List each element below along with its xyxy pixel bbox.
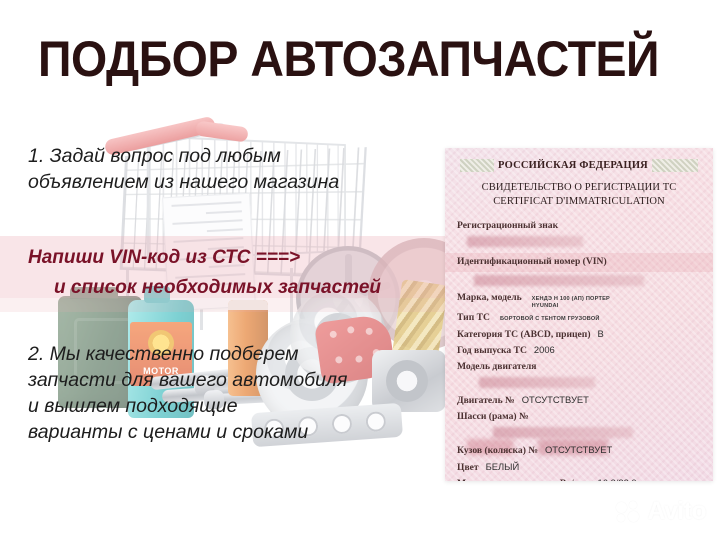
certificate-title-fr: CERTIFICAT D'IMMATRICULATION (457, 195, 701, 209)
certificate-field-label: Мощность двигателя, кВт/л. с. (457, 476, 591, 481)
certificate-field-row: Регистрационный знак (457, 218, 701, 234)
certificate-field-row: Двигатель №ОТСУТСТВУЕТ (457, 392, 701, 409)
step-1-line-2: объявлением из нашего магазина (28, 169, 339, 195)
step-2-line-3: и вышлем подходящие (28, 393, 347, 419)
step-1-line-1: 1. Задай вопрос под любым (28, 143, 339, 169)
certificate-field-label: Регистрационный знак (457, 218, 558, 234)
certificate-federation-line: РОССИЙСКАЯ ФЕДЕРАЦИЯ (457, 159, 701, 172)
certificate-title-ru: СВИДЕТЕЛЬСТВО О РЕГИСТРАЦИИ ТС (457, 181, 701, 195)
certificate-field-row: Шасси (рама) № (457, 409, 701, 425)
certificate-redacted-value (467, 236, 583, 247)
certificate-field-value: ОТСУТСТВУЕТ (545, 442, 612, 457)
avito-brand-text: Avito (647, 497, 706, 526)
certificate-field-row: Идентификационный номер (VIN) (445, 253, 713, 273)
step-1-text: 1. Задай вопрос под любым объявлением из… (28, 143, 339, 195)
guilloche-pattern-left (460, 159, 494, 172)
certificate-field-label: Шасси (рама) № (457, 409, 529, 425)
certificate-field-value: ОТСУТСТВУЕТ (522, 392, 589, 407)
step-2-line-2: запчасти для вашего автомобиля (28, 367, 347, 393)
certificate-field-value: БЕЛЫЙ (486, 459, 520, 474)
certificate-field-label: Двигатель № (457, 393, 515, 409)
step-2-text: 2. Мы качественно подберем запчасти для … (28, 341, 347, 445)
certificate-field-label: Цвет (457, 460, 479, 476)
step-2-line-4: варианты с ценами и сроками (28, 419, 347, 445)
certificate-field-value: ХЕНДЭ Н 100 (АП) ПОРТЕРHYUNDAI (532, 296, 610, 310)
certificate-field-label: Модель двигателя (457, 359, 536, 375)
certificate-field-value: 16.3/22.0 (598, 475, 637, 481)
certificate-field-value: БОРТОВОЙ С ТЕНТОМ ГРУЗОВОЙ (500, 316, 600, 323)
certificate-redacted-value (474, 275, 644, 286)
avito-watermark: Avito (616, 497, 706, 526)
certificate-field-label: Год выпуска ТС (457, 343, 527, 359)
avito-logo-icon (616, 501, 642, 523)
certificate-redacted-value (479, 377, 595, 388)
certificate-redacted-value (493, 427, 633, 438)
guilloche-pattern-right (652, 159, 698, 172)
certificate-field-value: 2006 (534, 342, 555, 357)
certificate-field-row: Тип ТСБОРТОВОЙ С ТЕНТОМ ГРУЗОВОЙ (457, 310, 701, 326)
certificate-field-row: Модель двигателя (457, 359, 701, 375)
bearing-pulley-icon (372, 350, 446, 412)
step-2-line-1: 2. Мы качественно подберем (28, 341, 347, 367)
certificate-field-row: ЦветБЕЛЫЙ (457, 459, 701, 476)
vin-callout: Напиши VIN-код из СТС ===> и список необ… (28, 243, 381, 303)
vehicle-registration-certificate: РОССИЙСКАЯ ФЕДЕРАЦИЯ СВИДЕТЕЛЬСТВО О РЕГ… (445, 148, 713, 481)
certificate-field-row: Кузов (коляска) №ОТСУТСТВУЕТ (457, 442, 701, 459)
certificate-federation-label: РОССИЙСКАЯ ФЕДЕРАЦИЯ (498, 160, 648, 171)
vin-callout-line-2: и список необходимых запчастей (28, 273, 381, 303)
certificate-field-row: Марка, модельХЕНДЭ Н 100 (АП) ПОРТЕРHYUN… (457, 290, 701, 310)
certificate-field-row: Категория ТС (ABCD, прицеп)B (457, 326, 701, 343)
certificate-field-row: Мощность двигателя, кВт/л. с.16.3/22.0 (457, 475, 701, 481)
certificate-field-label: Категория ТС (ABCD, прицеп) (457, 327, 591, 343)
certificate-field-label: Марка, модель (457, 290, 522, 306)
certificate-field-label: Кузов (коляска) № (457, 443, 538, 459)
certificate-field-row: Год выпуска ТС2006 (457, 342, 701, 359)
certificate-field-label: Идентификационный номер (VIN) (457, 254, 607, 270)
page-title: ПОДБОР АВТОЗАПЧАСТЕЙ (38, 30, 659, 88)
certificate-fields: Регистрационный знакИдентификационный но… (457, 218, 701, 481)
vin-callout-line-1: Напиши VIN-код из СТС ===> (28, 243, 381, 273)
certificate-field-value: B (598, 326, 604, 341)
coil-spring-icon (390, 279, 448, 375)
certificate-title: СВИДЕТЕЛЬСТВО О РЕГИСТРАЦИИ ТС CERTIFICA… (457, 181, 701, 210)
certificate-field-label: Тип ТС (457, 310, 490, 326)
shopping-cart-handle-secondary-icon (195, 120, 249, 142)
poster-canvas: MOTOR ПОДБОР АВТОЗАПЧАС (0, 0, 720, 540)
